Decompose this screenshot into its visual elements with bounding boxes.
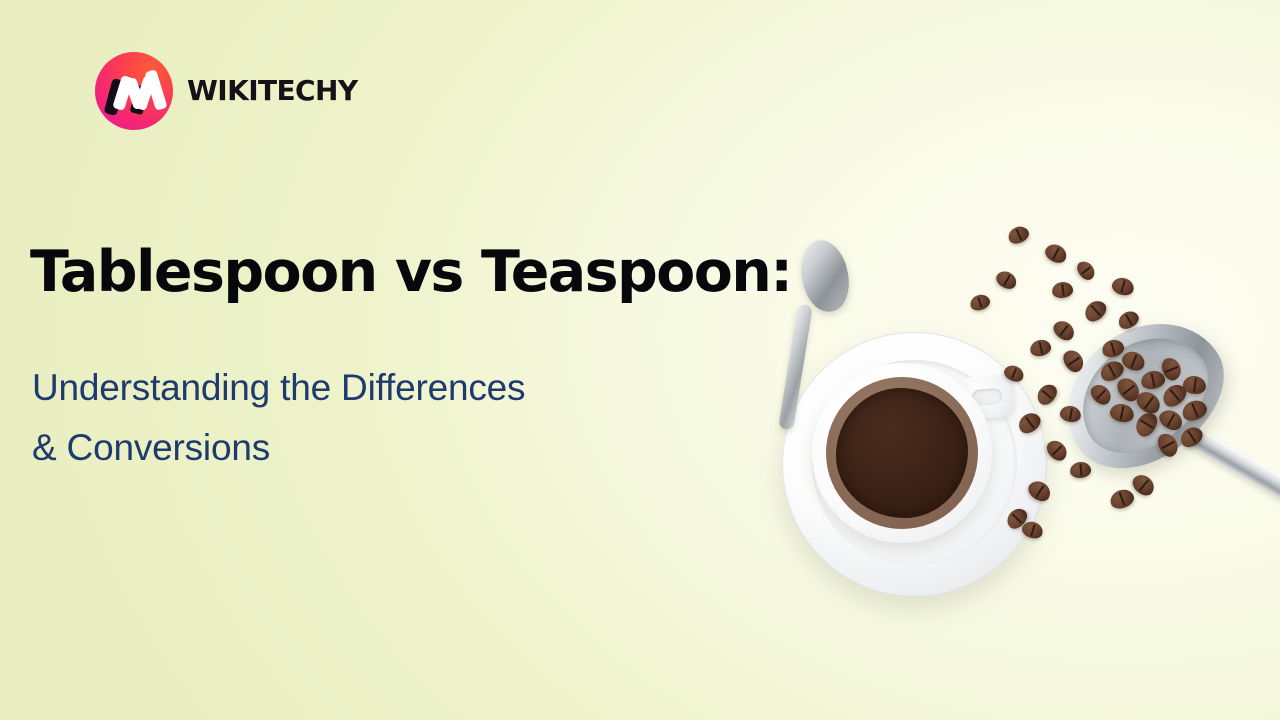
coffee-bean-icon — [1081, 297, 1110, 326]
hero-illustration — [760, 200, 1280, 630]
coffee-bean-icon — [1033, 381, 1060, 409]
page-subtitle-line-2: & Conversions — [32, 418, 792, 478]
coffee-bean-icon — [1069, 461, 1092, 479]
coffee-bean-icon — [1043, 437, 1071, 465]
coffee-bean-icon — [968, 292, 992, 312]
brand-logo[interactable]: WIKITECHY — [95, 52, 358, 130]
coffee-bean-icon — [1042, 241, 1069, 266]
coffee-bean-icon — [1074, 258, 1098, 283]
coffee-bean-icon — [1028, 338, 1052, 359]
coffee-bean-icon — [1006, 223, 1032, 246]
coffee-bean-icon — [1108, 486, 1137, 511]
slide-canvas: WIKITECHY Tablespoon vs Teaspoon: Unders… — [0, 0, 1280, 720]
coffee-liquid — [836, 388, 968, 518]
coffee-bean-icon — [993, 268, 1019, 292]
coffee-bean-icon — [1050, 317, 1078, 344]
page-subtitle: Understanding the Differences & Conversi… — [32, 358, 792, 478]
wikitechy-w-logo-icon — [95, 52, 173, 130]
coffee-crema — [826, 377, 978, 529]
coffee-bean-icon — [1051, 281, 1074, 300]
logo-w-glyph-icon — [117, 72, 163, 112]
coffee-cup-icon — [812, 363, 992, 543]
coffee-bean-icon — [1110, 275, 1136, 297]
page-subtitle-line-1: Understanding the Differences — [32, 358, 792, 418]
brand-name: WIKITECHY — [187, 77, 358, 105]
